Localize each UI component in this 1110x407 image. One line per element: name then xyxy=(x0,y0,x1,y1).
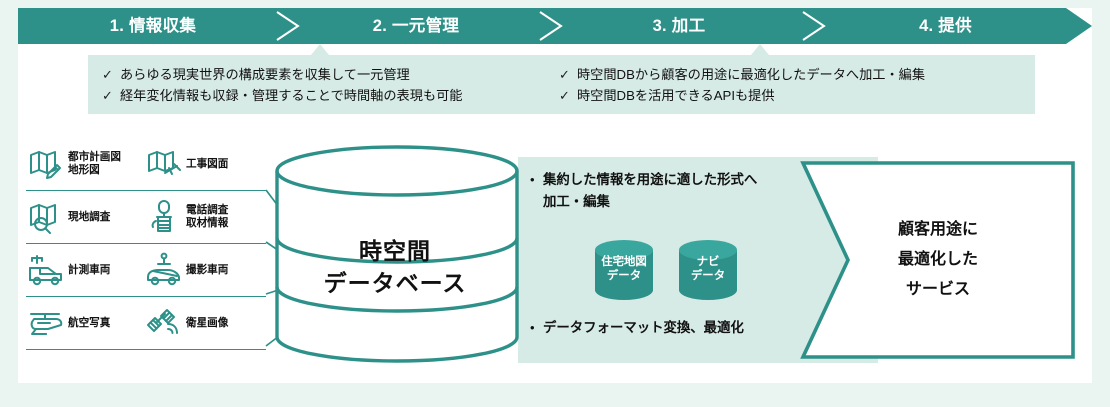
source-label-line: 衛星画像 xyxy=(186,317,228,330)
band-step-2[interactable]: 2. 一元管理 xyxy=(291,8,541,44)
product-label: 住宅地図 データ xyxy=(592,238,656,302)
check-icon: ✓ xyxy=(102,86,120,106)
processing-bullet-2: データフォーマット変換、最適化 xyxy=(543,318,744,338)
check-icon: ✓ xyxy=(559,86,577,106)
map-magnifier-icon xyxy=(26,197,66,237)
source-label-line: 撮影車両 xyxy=(186,264,228,277)
checklist-process-provide: ✓ 時空間DBから顧客の用途に最適化したデータへ加工・編集 ✓ 時空間DBを活用… xyxy=(545,55,1035,114)
product-label-line: ナビ xyxy=(697,256,720,270)
source-label-line: 工事図面 xyxy=(186,158,228,171)
processing-bullet-1-line2: 加工・編集 xyxy=(543,192,610,212)
source-row: 計測車両 撮影車両 xyxy=(26,244,266,297)
delivery-label: 顧客用途に 最適化した サービス xyxy=(800,160,1076,360)
product-residential-map-data[interactable]: 住宅地図 データ xyxy=(592,238,656,302)
checklist-item-text: 時空間DBから顧客の用途に最適化したデータへ加工・編集 xyxy=(577,65,925,85)
delivery-label-line1: 顧客用途に xyxy=(898,215,978,245)
source-item-label: 都市計画図 地形図 xyxy=(68,151,121,176)
source-row: 航空写真 衛星画像 xyxy=(26,297,266,350)
source-item-label: 計測車両 xyxy=(68,264,110,277)
delivery-box: 顧客用途に 最適化した サービス xyxy=(800,160,1076,360)
map-hammer-icon xyxy=(144,144,184,184)
source-item-label: 現地調査 xyxy=(68,211,110,224)
band-step-1[interactable]: 1. 情報収集 xyxy=(28,8,278,44)
band-step-4[interactable]: 4. 提供 xyxy=(818,8,1073,44)
source-item-phone-interview[interactable]: 電話調査 取材情報 xyxy=(144,197,266,237)
satellite-icon xyxy=(144,303,184,343)
source-item-label: 撮影車両 xyxy=(186,264,228,277)
check-icon: ✓ xyxy=(102,65,120,85)
source-row: 現地調査 電話調査 取材情報 xyxy=(26,191,266,244)
survey-van-icon xyxy=(26,250,66,290)
source-row: 都市計画図 地形図 工事図面 xyxy=(26,138,266,191)
check-icon: ✓ xyxy=(559,65,577,85)
source-item-construction-drawing[interactable]: 工事図面 xyxy=(144,144,266,184)
source-label-line: 地形図 xyxy=(68,164,121,177)
helicopter-icon xyxy=(26,303,66,343)
checklist-item-text: あらゆる現実世界の構成要素を収集して一元管理 xyxy=(120,65,410,85)
checklist-item-text: 経年変化情報も収録・管理することで時間軸の表現も可能 xyxy=(120,86,462,106)
source-item-field-survey[interactable]: 現地調査 xyxy=(26,197,144,237)
checklist-item: ✓ 時空間DBを活用できるAPIも提供 xyxy=(559,86,1021,106)
source-item-label: 電話調査 取材情報 xyxy=(186,204,228,229)
checklist-item-text: 時空間DBを活用できるAPIも提供 xyxy=(577,86,775,106)
source-item-urban-plan-map[interactable]: 都市計画図 地形図 xyxy=(26,144,144,184)
microphone-icon xyxy=(144,197,184,237)
database-label-line2: データベース xyxy=(290,267,500,300)
product-label-line: データ xyxy=(607,270,641,284)
delivery-label-line2: 最適化した xyxy=(898,245,978,275)
band-pointer-triangle-left xyxy=(311,44,329,55)
checklist-collect-manage: ✓ あらゆる現実世界の構成要素を収集して一元管理 ✓ 経年変化情報も収録・管理す… xyxy=(88,55,552,114)
processing-bullet-1-line1: 集約した情報を用途に適した形式へ xyxy=(543,170,757,190)
database-label-line1: 時空間 xyxy=(290,236,500,267)
source-item-label: 航空写真 xyxy=(68,317,110,330)
source-item-label: 工事図面 xyxy=(186,158,228,171)
source-item-survey-vehicle[interactable]: 計測車両 xyxy=(26,250,144,290)
source-label-line: 計測車両 xyxy=(68,264,110,277)
source-item-aerial-photo[interactable]: 航空写真 xyxy=(26,303,144,343)
product-label-line: 住宅地図 xyxy=(601,256,647,270)
process-band: 1. 情報収集 2. 一元管理 3. 加工 4. 提供 xyxy=(18,8,1092,44)
source-list: 都市計画図 地形図 工事図面 xyxy=(26,138,266,350)
map-pencil-icon xyxy=(26,144,66,184)
camera-car-icon xyxy=(144,250,184,290)
source-label-line: 取材情報 xyxy=(186,217,228,230)
checklist-item: ✓ あらゆる現実世界の構成要素を収集して一元管理 xyxy=(102,65,538,85)
product-label-line: データ xyxy=(691,270,725,284)
bullet-glyph: • xyxy=(530,320,535,335)
source-item-label: 衛星画像 xyxy=(186,317,228,330)
diagram-canvas: 1. 情報収集 2. 一元管理 3. 加工 4. 提供 ✓ あらゆる現実世界の構… xyxy=(0,0,1110,407)
checklist-item: ✓ 経年変化情報も収録・管理することで時間軸の表現も可能 xyxy=(102,86,538,106)
database-label: 時空間 データベース xyxy=(290,236,500,300)
band-step-3[interactable]: 3. 加工 xyxy=(554,8,804,44)
band-pointer-triangle-right xyxy=(751,44,769,55)
source-item-camera-vehicle[interactable]: 撮影車両 xyxy=(144,250,266,290)
source-label-line: 電話調査 xyxy=(186,204,228,217)
source-item-satellite-image[interactable]: 衛星画像 xyxy=(144,303,266,343)
checklist-item: ✓ 時空間DBから顧客の用途に最適化したデータへ加工・編集 xyxy=(559,65,1021,85)
source-label-line: 現地調査 xyxy=(68,211,110,224)
delivery-label-line3: サービス xyxy=(906,275,970,305)
product-label: ナビ データ xyxy=(676,238,740,302)
source-label-line: 航空写真 xyxy=(68,317,110,330)
bullet-glyph: • xyxy=(530,172,535,187)
product-navigation-data[interactable]: ナビ データ xyxy=(676,238,740,302)
source-label-line: 都市計画図 xyxy=(68,151,121,164)
